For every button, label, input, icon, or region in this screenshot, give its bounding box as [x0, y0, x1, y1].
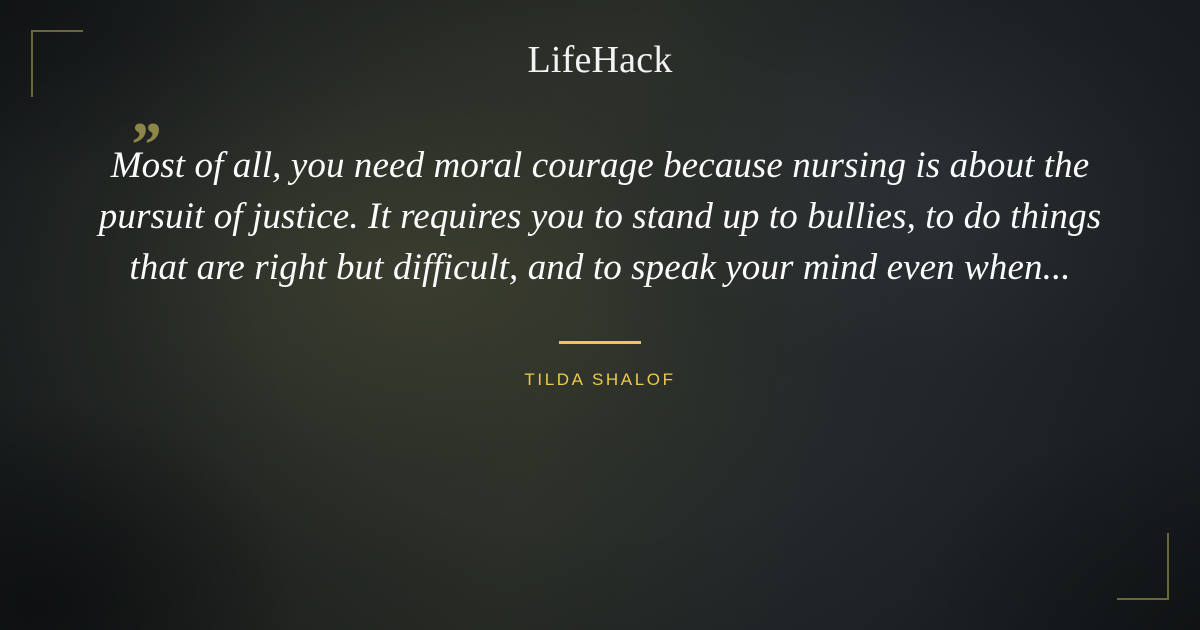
quote-card: ” LifeHack Most of all, you need moral c… [0, 0, 1200, 630]
card-content: LifeHack Most of all, you need moral cou… [0, 0, 1200, 630]
gold-divider [559, 341, 641, 344]
lifehack-logo: LifeHack [527, 41, 672, 79]
quote-author-name: TILDA SHALOF [524, 370, 675, 390]
quote-body-text: Most of all, you need moral courage beca… [95, 140, 1105, 293]
